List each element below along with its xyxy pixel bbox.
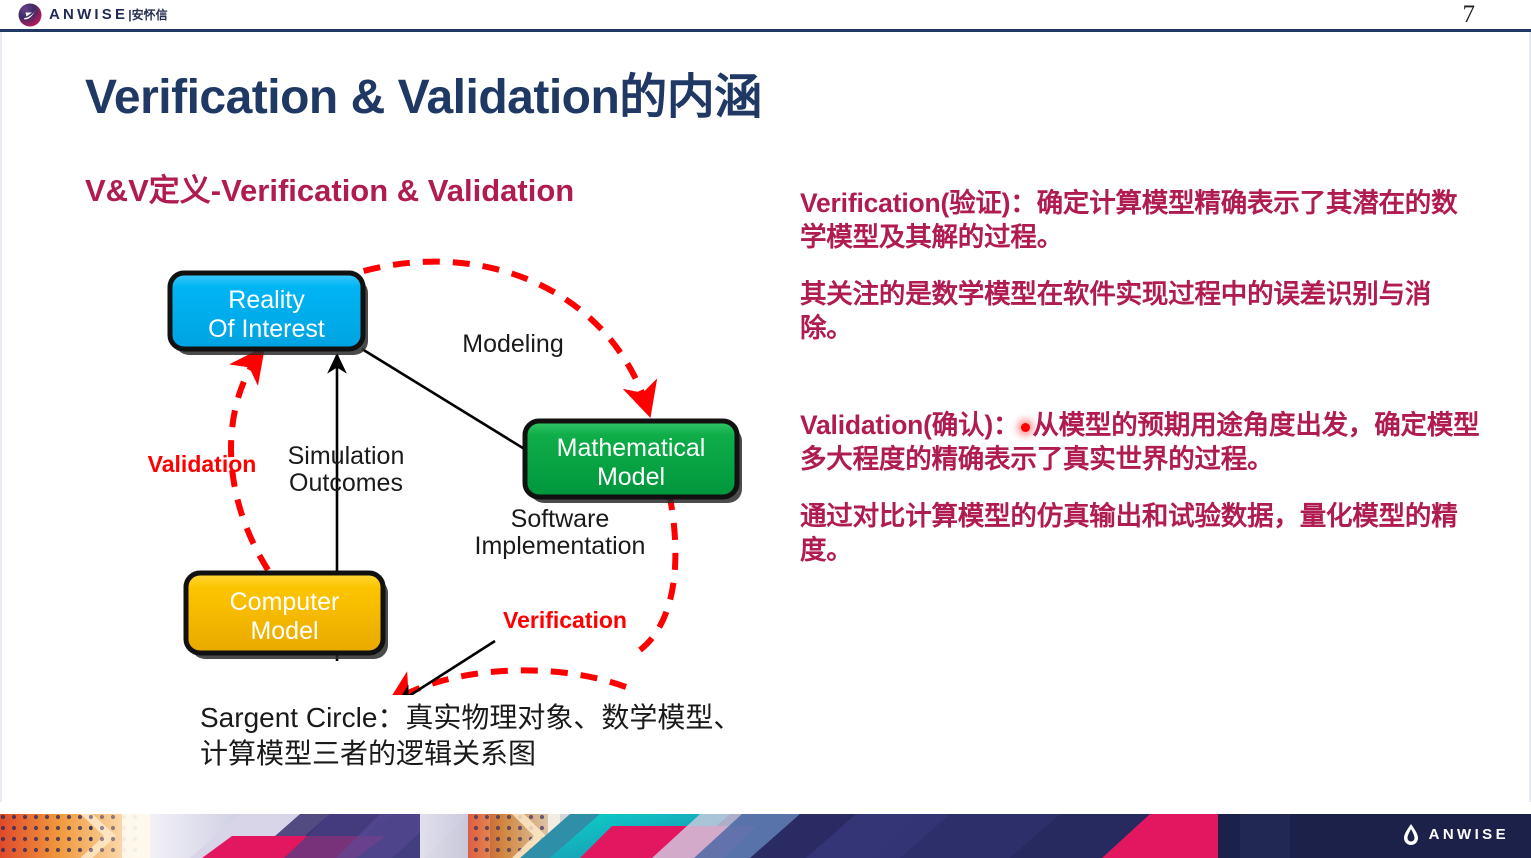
footer-decorative-banner	[0, 814, 1531, 858]
node-reality-of-interest[interactable]: Reality Of Interest	[170, 273, 368, 355]
sargent-circle-diagram: Reality Of Interest Mathematical Model C…	[140, 225, 780, 685]
definitions-column: Verification(验证)：确定计算模型精确表示了其潜在的数学模型及其解的…	[800, 186, 1480, 590]
edge-label-modeling: Modeling	[462, 330, 563, 358]
anwise-flame-icon	[1401, 823, 1421, 847]
page-number: 7	[1463, 0, 1476, 30]
node-mathematical-model[interactable]: Mathematical Model	[525, 421, 742, 503]
footer-logo-text: ANWISE	[1429, 825, 1509, 845]
column-spacer	[800, 368, 1480, 408]
node-computer-line2: Model	[250, 617, 318, 645]
validation-definition-prefix: Validation(确认)：	[800, 410, 1019, 440]
edge-label-simulation-line1: Simulation	[288, 442, 405, 470]
edge-label-software-line2: Implementation	[475, 532, 646, 560]
arc-label-validation: Validation	[148, 451, 257, 477]
edge-label-software-line1: Software	[511, 505, 610, 533]
verification-definition: Verification(验证)：确定计算模型精确表示了其潜在的数学模型及其解的…	[800, 186, 1480, 255]
node-math-line2: Model	[597, 463, 665, 491]
slide-footer: ANWISE	[0, 814, 1531, 858]
node-reality-line2: Of Interest	[208, 315, 325, 343]
slide-left-border	[0, 32, 2, 802]
brand-logo-text: ANWISE|安怀信	[49, 3, 168, 27]
arc-label-verification: Verification	[503, 607, 627, 633]
section-subtitle: V&V定义-Verification & Validation	[85, 165, 574, 210]
node-computer-model[interactable]: Computer Model	[186, 573, 388, 659]
node-computer-line1: Computer	[230, 588, 340, 616]
verification-detail: 其关注的是数学模型在软件实现过程中的误差识别与消除。	[800, 277, 1480, 346]
diagram-caption: Sargent Circle：真实物理对象、数学模型、计算模型三者的逻辑关系图	[200, 700, 760, 773]
slide-root: ANWISE|安怀信 7 Verification & Validation的内…	[0, 0, 1531, 858]
brand-logo: ANWISE|安怀信	[18, 3, 168, 27]
validation-definition: Validation(确认)：从模型的预期用途角度出发，确定模型多大程度的精确表…	[800, 408, 1480, 477]
header-divider	[0, 29, 1531, 32]
validation-detail: 通过对比计算模型的仿真输出和试验数据，量化模型的精度。	[800, 499, 1480, 568]
slide-header: ANWISE|安怀信 7	[0, 0, 1531, 31]
page-title: Verification & Validation的内涵	[85, 57, 762, 127]
footer-brand-logo: ANWISE	[1401, 823, 1509, 847]
anwise-swoosh-icon	[18, 3, 42, 27]
node-reality-line1: Reality	[228, 286, 305, 314]
laser-pointer-dot	[1021, 423, 1030, 432]
software-implementation-arrow	[398, 641, 495, 695]
node-math-line1: Mathematical	[557, 434, 706, 462]
edge-label-simulation-line2: Outcomes	[289, 469, 403, 497]
